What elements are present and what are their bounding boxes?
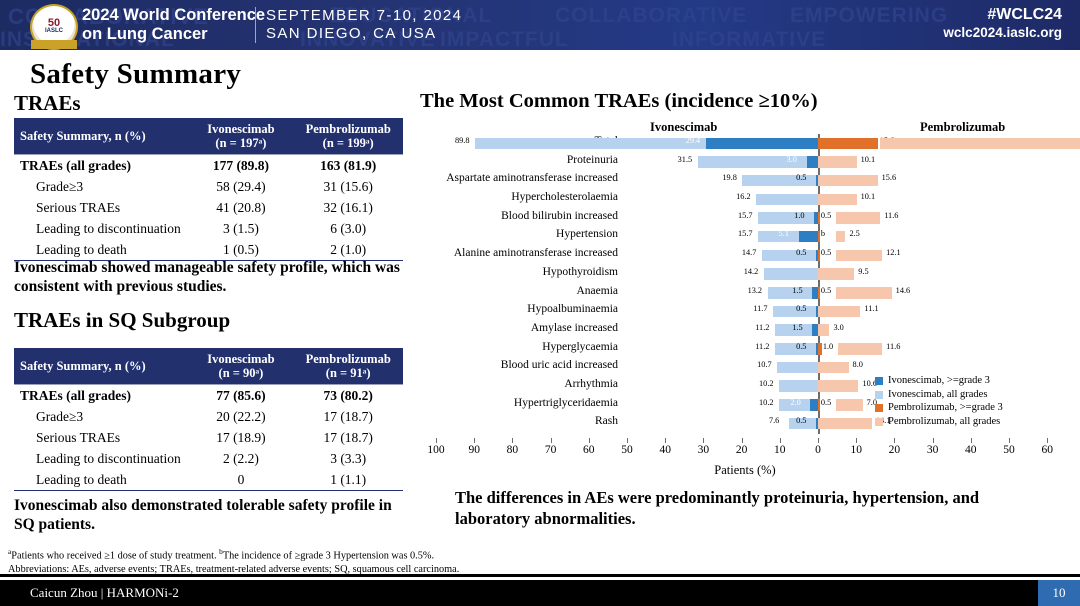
bar-ivonescimab-all-grades — [756, 194, 818, 206]
col-header-pembrolizumab-n: (n = 91ᵃ) — [299, 366, 397, 380]
value-ivonescimab-grade3: 3.0 — [787, 155, 797, 164]
logo-org-text: IASLC — [45, 28, 63, 35]
sq-subgroup-table: Safety Summary, n (%) Ivonescimab (n = 9… — [14, 348, 403, 491]
chart-row: Amylase increased11.21.53.0 — [420, 321, 1070, 340]
row-value-ivonescimab: 20 (22.2) — [188, 406, 293, 427]
value-pembrolizumab-grade3: 0.5 — [821, 248, 831, 257]
x-axis-tick — [856, 438, 857, 443]
x-axis-tick-label: 80 — [507, 444, 519, 456]
x-axis-ticks: 1009080706050403020100102030405060708090… — [420, 438, 1070, 445]
bar-ivonescimab-grade3 — [706, 138, 818, 150]
legend-item[interactable]: Pembrolizumab, all grades — [875, 416, 1003, 429]
bar-pembrolizumab-all-grades — [836, 287, 892, 299]
row-value-pembrolizumab: 6 (3.0) — [293, 218, 403, 239]
value-pembrolizumab-all-grades: 11.6 — [884, 211, 898, 220]
row-value-pembrolizumab: 17 (18.7) — [293, 406, 403, 427]
value-ivonescimab-grade3: 0.5 — [796, 248, 806, 257]
table-row: TRAEs (all grades)77 (85.6)73 (80.2) — [14, 385, 403, 407]
table-row: TRAEs (all grades)177 (89.8)163 (81.9) — [14, 155, 403, 177]
col-header-pembrolizumab-name: Pembrolizumab — [299, 352, 397, 366]
x-axis-label: Patients (%) — [420, 463, 1070, 478]
bar-pembrolizumab-grade3 — [818, 250, 820, 262]
traes-diverging-bar-chart: Ivonescimab Pembrolizumab Total89.829.41… — [420, 120, 1070, 480]
value-ivonescimab-all-grades: 15.7 — [738, 229, 753, 238]
footnote-text-b: The incidence of ≥grade 3 Hypertension w… — [223, 550, 434, 561]
x-axis-tick — [589, 438, 590, 443]
chart-row: Hyperglycaemia11.20.51.011.6 — [420, 340, 1070, 359]
chart-bars: 14.29.5 — [420, 268, 1070, 280]
table-body: TRAEs (all grades)177 (89.8)163 (81.9)Gr… — [14, 155, 403, 261]
col-header-pembrolizumab-name: Pembrolizumab — [299, 122, 397, 136]
chart-bars: 13.21.50.514.6 — [420, 287, 1070, 299]
slide-number: 10 — [1038, 580, 1080, 606]
bar-ivonescimab-all-grades — [742, 175, 818, 187]
table-header: Safety Summary, n (%) Ivonescimab (n = 9… — [14, 348, 403, 385]
bar-pembrolizumab-all-grades — [818, 268, 854, 280]
value-pembrolizumab-all-grades: 14.6 — [896, 286, 911, 295]
x-axis-tick — [818, 438, 819, 443]
chart-row: Aspartate aminotransferase increased19.8… — [420, 171, 1070, 190]
row-value-ivonescimab: 2 (2.2) — [188, 448, 293, 469]
x-axis-tick-label: 70 — [545, 444, 557, 456]
bar-ivonescimab-grade3 — [807, 156, 818, 168]
chart-bars: 89.829.415.681.9 — [420, 138, 1070, 150]
chart-bars: 15.75.1b2.5 — [420, 231, 1070, 243]
logo-ribbon — [31, 40, 77, 49]
legend-label: Pembrolizumab, all grades — [888, 416, 1000, 429]
conference-website[interactable]: wclc2024.iaslc.org — [943, 24, 1062, 41]
x-axis-tick-label: 50 — [621, 444, 633, 456]
chart-row: Total89.829.415.681.9 — [420, 134, 1070, 153]
col-header-ivonescimab-name: Ivonescimab — [194, 352, 287, 366]
table-row: Leading to discontinuation3 (1.5)6 (3.0) — [14, 218, 403, 239]
x-axis-tick — [436, 438, 437, 443]
chart-bars: 15.71.00.511.6 — [420, 212, 1070, 224]
col-header-label: Safety Summary, n (%) — [14, 348, 188, 385]
row-value-pembrolizumab: 31 (15.6) — [293, 176, 403, 197]
x-axis-tick-label: 10 — [774, 444, 786, 456]
row-value-ivonescimab: 41 (20.8) — [188, 197, 293, 218]
chart-legend: Ivonescimab, >=grade 3Ivonescimab, all g… — [875, 375, 1003, 429]
value-ivonescimab-grade3: 1.5 — [792, 323, 802, 332]
x-axis-tick-label: 50 — [1003, 444, 1015, 456]
bar-pembrolizumab-all-grades — [818, 324, 829, 336]
x-axis-tick-label: 40 — [965, 444, 977, 456]
row-value-pembrolizumab: 3 (3.3) — [293, 448, 403, 469]
value-ivonescimab-all-grades: 10.2 — [759, 379, 774, 388]
x-axis-tick — [1047, 438, 1048, 443]
watermark-word: INFORMATIVE — [672, 28, 826, 50]
chart-group-label-left: Ivonescimab — [650, 120, 717, 135]
footnotes: aPatients who received ≥1 dose of study … — [8, 545, 568, 576]
bar-pembrolizumab-all-grades — [836, 399, 863, 411]
row-label: Serious TRAEs — [14, 197, 188, 218]
chart-x-axis: 1009080706050403020100102030405060708090… — [420, 438, 1070, 478]
chart-bars: 10.78.0 — [420, 362, 1070, 374]
chart-bars: 31.53.010.1 — [420, 156, 1070, 168]
x-axis-tick — [551, 438, 552, 443]
footnote-line-1: aPatients who received ≥1 dose of study … — [8, 545, 568, 563]
row-label: Leading to discontinuation — [14, 448, 188, 469]
value-ivonescimab-all-grades: 14.7 — [742, 248, 757, 257]
bar-pembrolizumab-all-grades — [818, 362, 849, 374]
chart-bars: 19.80.515.6 — [420, 175, 1070, 187]
x-axis-tick — [474, 438, 475, 443]
conference-name-line1: 2024 World Conference — [82, 6, 265, 25]
value-pembrolizumab-all-grades: 11.1 — [864, 304, 878, 313]
chart-title: The Most Common TRAEs (incidence ≥10%) — [420, 90, 818, 113]
chart-row: Hypothyroidism14.29.5 — [420, 265, 1070, 284]
bar-pembrolizumab-all-grades — [818, 156, 857, 168]
chart-row: Blood bilirubin increased15.71.00.511.6 — [420, 209, 1070, 228]
legend-swatch — [875, 391, 883, 399]
chart-row: Proteinuria31.53.010.1 — [420, 153, 1070, 172]
row-value-ivonescimab: 58 (29.4) — [188, 176, 293, 197]
legend-label: Pembrolizumab, >=grade 3 — [888, 402, 1003, 415]
table-body: TRAEs (all grades)77 (85.6)73 (80.2)Grad… — [14, 385, 403, 491]
x-axis-tick — [971, 438, 972, 443]
bar-pembrolizumab-grade3 — [818, 399, 820, 411]
x-axis-tick-label: 30 — [927, 444, 939, 456]
table-row: Leading to discontinuation2 (2.2)3 (3.3) — [14, 448, 403, 469]
row-label: Leading to discontinuation — [14, 218, 188, 239]
value-ivonescimab-grade3: 0.5 — [796, 304, 806, 313]
table-row: Grade≥358 (29.4)31 (15.6) — [14, 176, 403, 197]
value-ivonescimab-all-grades: 10.2 — [759, 398, 774, 407]
bar-pembrolizumab-all-grades — [880, 138, 1080, 150]
row-value-ivonescimab: 0 — [188, 469, 293, 491]
bar-pembrolizumab-grade3 — [818, 138, 878, 150]
value-ivonescimab-all-grades: 19.8 — [722, 173, 737, 182]
value-ivonescimab-all-grades: 15.7 — [738, 211, 753, 220]
col-header-ivonescimab-n: (n = 197ᵃ) — [194, 136, 287, 150]
presenter-label: Caicun Zhou | HARMONi-2 — [30, 585, 179, 601]
table-row: Serious TRAEs17 (18.9)17 (18.7) — [14, 427, 403, 448]
bar-pembrolizumab-grade3 — [818, 343, 822, 355]
watermark-word: COLLABORATIVE — [555, 4, 747, 28]
col-header-label: Safety Summary, n (%) — [14, 118, 188, 155]
value-pembrolizumab-all-grades: 10.1 — [861, 192, 876, 201]
value-ivonescimab-all-grades: 11.7 — [753, 304, 767, 313]
bar-ivonescimab-grade3 — [799, 231, 818, 243]
x-axis-tick-label: 0 — [815, 444, 821, 456]
value-pembrolizumab-all-grades: 3.0 — [833, 323, 843, 332]
footnote-text-a: Patients who received ≥1 dose of study t… — [11, 550, 216, 561]
header-divider — [255, 7, 256, 43]
note-safety-profile: Ivonescimab showed manageable safety pro… — [14, 258, 414, 296]
value-ivonescimab-all-grades: 14.2 — [744, 267, 759, 276]
value-pembrolizumab-all-grades: 10.1 — [861, 155, 876, 164]
value-pembrolizumab-grade3: 0.5 — [821, 211, 831, 220]
col-header-pembrolizumab-n: (n = 199ᵃ) — [299, 136, 397, 150]
value-ivonescimab-grade3: 29.4 — [686, 136, 701, 145]
bar-pembrolizumab-grade3 — [818, 231, 820, 243]
bar-ivonescimab-all-grades — [777, 362, 818, 374]
value-ivonescimab-grade3: 1.0 — [794, 211, 804, 220]
section-heading-sq-subgroup: TRAEs in SQ Subgroup — [14, 308, 230, 333]
chart-row: Hypoalbuminaemia11.70.511.1 — [420, 302, 1070, 321]
x-axis-tick — [1009, 438, 1010, 443]
row-value-pembrolizumab: 1 (1.1) — [293, 469, 403, 491]
chart-bars: 14.70.50.512.1 — [420, 250, 1070, 262]
legend-label: Ivonescimab, >=grade 3 — [888, 375, 990, 388]
x-axis-tick-label: 90 — [468, 444, 480, 456]
value-ivonescimab-grade3: 0.5 — [796, 416, 806, 425]
legend-swatch — [875, 404, 883, 412]
row-label: TRAEs (all grades) — [14, 385, 188, 407]
chart-bars: 11.21.53.0 — [420, 324, 1070, 336]
value-ivonescimab-grade3: 0.5 — [796, 342, 806, 351]
chart-bars: 11.20.51.011.6 — [420, 343, 1070, 355]
safety-summary-table: Safety Summary, n (%) Ivonescimab (n = 1… — [14, 118, 403, 261]
conference-hashtag: #WCLC24 — [943, 5, 1062, 24]
logo-anniversary-text: 50 — [48, 19, 60, 28]
bar-pembrolizumab-all-grades — [836, 212, 880, 224]
row-value-pembrolizumab: 32 (16.1) — [293, 197, 403, 218]
bar-pembrolizumab-all-grades — [838, 343, 882, 355]
legend-item[interactable]: Pembrolizumab, >=grade 3 — [875, 402, 1003, 415]
bar-ivonescimab-all-grades — [779, 380, 818, 392]
bar-pembrolizumab-all-grades — [818, 306, 860, 318]
row-value-pembrolizumab: 17 (18.7) — [293, 427, 403, 448]
value-ivonescimab-all-grades: 10.7 — [757, 360, 772, 369]
legend-label: Ivonescimab, all grades — [888, 389, 987, 402]
value-ivonescimab-grade3: 5.1 — [779, 229, 789, 238]
value-ivonescimab-all-grades: 16.2 — [736, 192, 751, 201]
value-pembrolizumab-grade3: 0.5 — [821, 286, 831, 295]
watermark-word: EMPOWERING — [790, 4, 948, 28]
value-pembrolizumab-all-grades: 2.5 — [849, 229, 859, 238]
bar-pembrolizumab-all-grades — [818, 380, 858, 392]
x-axis-tick-label: 100 — [427, 444, 444, 456]
legend-swatch — [875, 377, 883, 385]
bar-pembrolizumab-all-grades — [836, 231, 846, 243]
row-label: Grade≥3 — [14, 406, 188, 427]
conference-location: SAN DIEGO, CA USA — [266, 25, 462, 43]
bar-pembrolizumab-all-grades — [818, 175, 878, 187]
row-value-pembrolizumab: 163 (81.9) — [293, 155, 403, 177]
value-ivonescimab-all-grades: 7.6 — [769, 416, 779, 425]
table-header: Safety Summary, n (%) Ivonescimab (n = 1… — [14, 118, 403, 155]
value-ivonescimab-all-grades: 11.2 — [755, 323, 769, 332]
value-pembrolizumab-all-grades: 11.6 — [886, 342, 900, 351]
conference-date: SEPTEMBER 7-10, 2024 — [266, 7, 462, 25]
conference-date-location: SEPTEMBER 7-10, 2024 SAN DIEGO, CA USA — [266, 7, 462, 43]
chart-bars: 16.210.1 — [420, 194, 1070, 206]
footer-rule — [0, 574, 1080, 577]
row-label: Leading to death — [14, 469, 188, 491]
row-label: TRAEs (all grades) — [14, 155, 188, 177]
chart-row: Hypercholesterolaemia16.210.1 — [420, 190, 1070, 209]
value-ivonescimab-all-grades: 13.2 — [748, 286, 763, 295]
value-ivonescimab-grade3: 2.0 — [790, 398, 800, 407]
col-header-ivonescimab: Ivonescimab (n = 197ᵃ) — [188, 118, 293, 155]
row-value-ivonescimab: 77 (85.6) — [188, 385, 293, 407]
x-axis-tick-label: 40 — [659, 444, 671, 456]
value-pembrolizumab-grade3: 1.0 — [823, 342, 833, 351]
x-axis-tick-label: 20 — [736, 444, 748, 456]
slide-footer: Caicun Zhou | HARMONi-2 10 — [0, 580, 1080, 606]
conference-name-line2: on Lung Cancer — [82, 25, 265, 44]
row-value-ivonescimab: 177 (89.8) — [188, 155, 293, 177]
x-axis-tick — [703, 438, 704, 443]
bar-pembrolizumab-all-grades — [818, 418, 872, 430]
value-pembrolizumab-all-grades: 12.1 — [886, 248, 901, 257]
section-heading-traes: TRAEs — [14, 91, 81, 116]
x-axis-tick — [512, 438, 513, 443]
col-header-ivonescimab-name: Ivonescimab — [194, 122, 287, 136]
table-row: Grade≥320 (22.2)17 (18.7) — [14, 406, 403, 427]
x-axis-tick — [933, 438, 934, 443]
conference-social: #WCLC24 wclc2024.iaslc.org — [943, 5, 1062, 41]
value-pembrolizumab-grade3: 0.5 — [821, 398, 831, 407]
row-value-ivonescimab: 17 (18.9) — [188, 427, 293, 448]
value-ivonescimab-grade3: 0.5 — [796, 173, 806, 182]
conference-name: 2024 World Conference on Lung Cancer — [82, 6, 265, 44]
value-ivonescimab-grade3: 1.5 — [792, 286, 802, 295]
bar-pembrolizumab-all-grades — [836, 250, 882, 262]
legend-item[interactable]: Ivonescimab, >=grade 3 — [875, 375, 1003, 388]
row-label: Grade≥3 — [14, 176, 188, 197]
note-sq-profile: Ivonescimab also demonstrated tolerable … — [14, 496, 414, 534]
x-axis-tick — [894, 438, 895, 443]
bar-ivonescimab-grade3 — [810, 399, 818, 411]
chart-row: Hypertension15.75.1b2.5 — [420, 227, 1070, 246]
value-ivonescimab-all-grades: 31.5 — [678, 155, 693, 164]
chart-row: Anaemia13.21.50.514.6 — [420, 284, 1070, 303]
row-value-ivonescimab: 3 (1.5) — [188, 218, 293, 239]
table-row: Leading to death01 (1.1) — [14, 469, 403, 491]
table-row: Serious TRAEs41 (20.8)32 (16.1) — [14, 197, 403, 218]
col-header-pembrolizumab: Pembrolizumab (n = 199ᵃ) — [293, 118, 403, 155]
value-pembrolizumab-all-grades: 15.6 — [882, 173, 897, 182]
bar-ivonescimab-all-grades — [698, 156, 818, 168]
chart-group-label-right: Pembrolizumab — [920, 120, 1005, 135]
x-axis-tick — [780, 438, 781, 443]
col-header-ivonescimab: Ivonescimab (n = 90ᵃ) — [188, 348, 293, 385]
x-axis-tick-label: 30 — [698, 444, 710, 456]
x-axis-tick — [742, 438, 743, 443]
iaslc-logo-icon: 50 IASLC — [30, 4, 78, 50]
chart-bars: 11.70.511.1 — [420, 306, 1070, 318]
bar-ivonescimab-all-grades — [758, 212, 818, 224]
col-header-ivonescimab-n: (n = 90ᵃ) — [194, 366, 287, 380]
value-ivonescimab-all-grades: 11.2 — [755, 342, 769, 351]
chart-row: Alanine aminotransferase increased14.70.… — [420, 246, 1070, 265]
bar-pembrolizumab-grade3 — [818, 212, 820, 224]
row-label: Serious TRAEs — [14, 427, 188, 448]
page-title: Safety Summary — [30, 58, 241, 91]
bar-ivonescimab-all-grades — [762, 250, 818, 262]
value-pembrolizumab-all-grades: 8.0 — [853, 360, 863, 369]
value-pembrolizumab-all-grades: 9.5 — [858, 267, 868, 276]
legend-swatch — [875, 418, 883, 426]
x-axis-tick-label: 10 — [850, 444, 862, 456]
row-value-pembrolizumab: 73 (80.2) — [293, 385, 403, 407]
conclusion-text: The differences in AEs were predominantl… — [455, 487, 995, 529]
x-axis-tick-label: 60 — [583, 444, 595, 456]
conference-header: COLLABORATIVE EDUCATIONAL COLLABORATIVE … — [0, 0, 1080, 50]
bar-pembrolizumab-grade3 — [818, 287, 820, 299]
x-axis-tick-label: 60 — [1041, 444, 1053, 456]
col-header-pembrolizumab: Pembrolizumab (n = 91ᵃ) — [293, 348, 403, 385]
x-axis-tick — [665, 438, 666, 443]
legend-item[interactable]: Ivonescimab, all grades — [875, 389, 1003, 402]
x-axis-tick — [627, 438, 628, 443]
value-ivonescimab-all-grades: 89.8 — [455, 136, 470, 145]
value-pembrolizumab-grade3: b — [821, 229, 825, 238]
x-axis-tick-label: 20 — [889, 444, 901, 456]
bar-ivonescimab-all-grades — [764, 268, 818, 280]
bar-pembrolizumab-all-grades — [818, 194, 857, 206]
